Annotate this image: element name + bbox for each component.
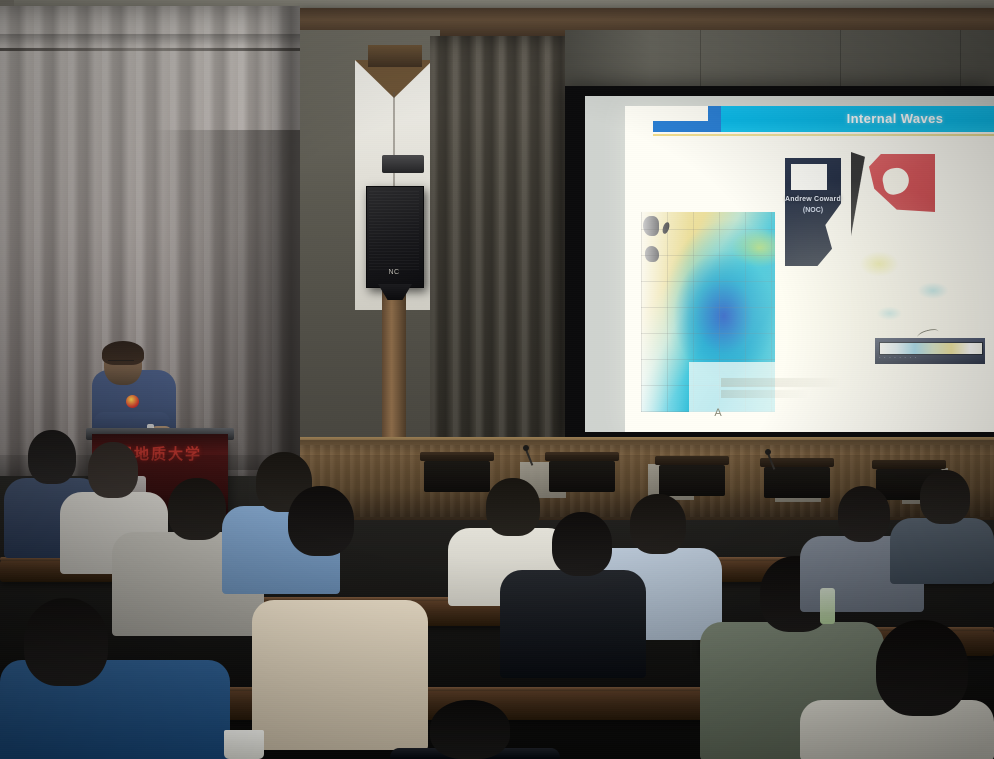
person-lanyard-blue-head [630,494,686,554]
speaker-grill [369,190,419,270]
person-row1-grey-head [88,442,138,498]
speaker-brand-label: NC [382,268,406,277]
audience-water-bottle [820,588,835,624]
person-head-low-center-head [430,700,510,759]
speaker-mount [382,155,424,173]
presenter-badge [126,395,139,408]
inset-author-name: Andrew Coward [785,194,841,205]
glasses-icon [108,360,134,366]
slide-caption-line-1 [721,378,841,387]
slide-caption-line-2 [721,390,809,398]
colorbar-ticks: · · · · · · · · [879,355,981,362]
presentation-slide: Internal Waves Andrew Coward (NOC) · · · [625,106,994,432]
person-back-right-head [920,470,970,524]
figure-panel-label: A [711,406,725,420]
map-light-wash [689,362,775,412]
person-longhair-front-head [288,486,354,556]
slide-rule [653,134,994,136]
inset-noc-thumbnail [791,164,827,190]
person-white-bottomright-head [876,620,968,716]
person-longhair-front-torso [252,600,428,750]
curtain-valance [0,34,300,46]
wood-column-cap [368,45,422,67]
microphone-head-icon [523,445,529,451]
bench-top-edge [380,687,740,691]
person-blue-foreground-head [24,598,108,686]
person-row1-left-head [28,430,76,484]
person-dark-shirt-torso [500,570,646,678]
paper-cup [224,730,264,759]
slide-title: Internal Waves [800,109,990,129]
person-striped-right-head [838,486,890,542]
projection-screen: Internal Waves Andrew Coward (NOC) · · · [585,96,994,432]
person-grey-sweater-head [168,478,226,540]
person-white-row2-head [486,478,540,536]
inset-author-org: (NOC) [785,206,841,216]
curtain-dark [430,36,580,470]
person-dark-shirt-head [552,512,612,576]
slide-title-white-block [653,106,708,121]
lecture-hall-photo: NC Internal Waves [0,0,994,759]
curtain-cord [0,48,300,51]
person-back-right-torso [890,518,994,584]
colorbar [879,342,983,355]
